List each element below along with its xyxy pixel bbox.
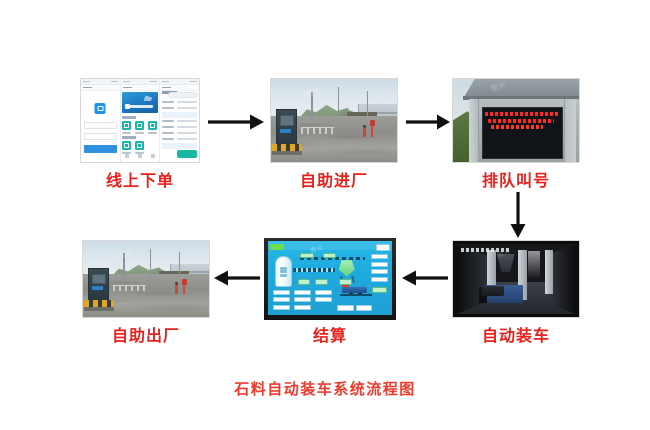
section-title (122, 116, 158, 119)
hmi-tag (315, 279, 327, 284)
form-row[interactable] (162, 107, 198, 109)
menu-icon[interactable] (122, 121, 131, 134)
step-image-auto-loading: 图片 (452, 240, 580, 318)
app-screen-order-form (160, 79, 199, 162)
hmi-mixer (339, 260, 355, 276)
hmi-conveyor (293, 268, 335, 272)
hmi-tag (339, 279, 353, 284)
step-image-self-exit: 图片 (82, 240, 210, 318)
hmi-tag (323, 253, 337, 258)
connector-arrow-left (214, 268, 262, 288)
hmi-value (273, 305, 290, 310)
hmi-value (294, 297, 311, 302)
hmi-value (294, 290, 311, 295)
hmi-value (315, 290, 332, 295)
form-row[interactable] (162, 126, 198, 128)
hmi-clock (376, 244, 390, 251)
step-label-auto-loading: 自动装车 (446, 322, 586, 346)
username-field[interactable] (84, 122, 117, 129)
step-image-settlement: 图片 (264, 238, 396, 320)
form-row[interactable] (162, 138, 198, 140)
step-label-queue-call: 排队叫号 (446, 167, 586, 191)
home-icon-row-1 (122, 121, 158, 134)
hmi-button[interactable] (356, 305, 372, 311)
connector-arrow-right (206, 112, 264, 132)
home-banner (122, 92, 158, 113)
hmi-value (294, 305, 311, 310)
gate-barrier (371, 122, 374, 137)
step-image-self-entry: 图片 (270, 78, 398, 163)
step-label-online-order: 线上下单 (60, 167, 220, 191)
app-screen-home (121, 79, 161, 162)
hmi-tag (372, 287, 387, 293)
hmi-value (315, 297, 332, 302)
menu-icon[interactable] (135, 121, 144, 134)
led-display-board (482, 107, 563, 158)
step-label-settlement: 结算 (270, 322, 390, 346)
login-button[interactable] (84, 145, 117, 153)
app-screen-login (81, 79, 121, 162)
form-row[interactable] (162, 101, 198, 103)
form-dropdown[interactable] (168, 92, 198, 98)
flowchart-canvas: 线上下单 图片 自助进厂 (0, 0, 650, 430)
hmi-value (273, 290, 290, 295)
step-label-self-entry: 自助进厂 (264, 167, 404, 191)
password-field[interactable] (84, 133, 117, 140)
connector-arrow-right (404, 112, 450, 132)
hmi-value (371, 269, 388, 274)
app-logo-icon (95, 103, 106, 114)
menu-icon[interactable] (122, 141, 131, 154)
hmi-button[interactable] (337, 305, 353, 311)
hmi-silo (275, 256, 291, 287)
form-row[interactable] (162, 132, 198, 134)
tab-bar[interactable] (121, 154, 160, 158)
hmi-value (371, 277, 388, 282)
step-image-queue-call: 图片 (452, 78, 580, 163)
hmi-value (273, 297, 290, 302)
hmi-status-badge (270, 244, 284, 250)
form-highlight-row[interactable] (162, 112, 198, 118)
form-highlight-row[interactable] (162, 143, 198, 149)
diagram-title: 石料自动装车系统流程图 (0, 378, 650, 399)
guard-booth (88, 268, 109, 301)
home-icon-row-2 (122, 141, 158, 154)
hmi-value (371, 254, 388, 259)
menu-icon[interactable] (135, 141, 144, 154)
section-title (122, 136, 158, 139)
guard-booth (276, 109, 297, 146)
hmi-screen: 图片 (268, 241, 392, 315)
form-row[interactable] (162, 120, 198, 122)
step-image-online-order (80, 78, 200, 163)
hmi-truck (342, 287, 367, 293)
hmi-tag (298, 279, 310, 284)
gate-barrier (183, 281, 186, 295)
step-label-self-exit: 自助出厂 (76, 322, 216, 346)
connector-arrow-down (506, 190, 530, 238)
connector-arrow-left (402, 268, 450, 288)
menu-icon[interactable] (148, 121, 157, 134)
hmi-value (371, 262, 388, 267)
submit-order-button[interactable] (177, 150, 197, 158)
